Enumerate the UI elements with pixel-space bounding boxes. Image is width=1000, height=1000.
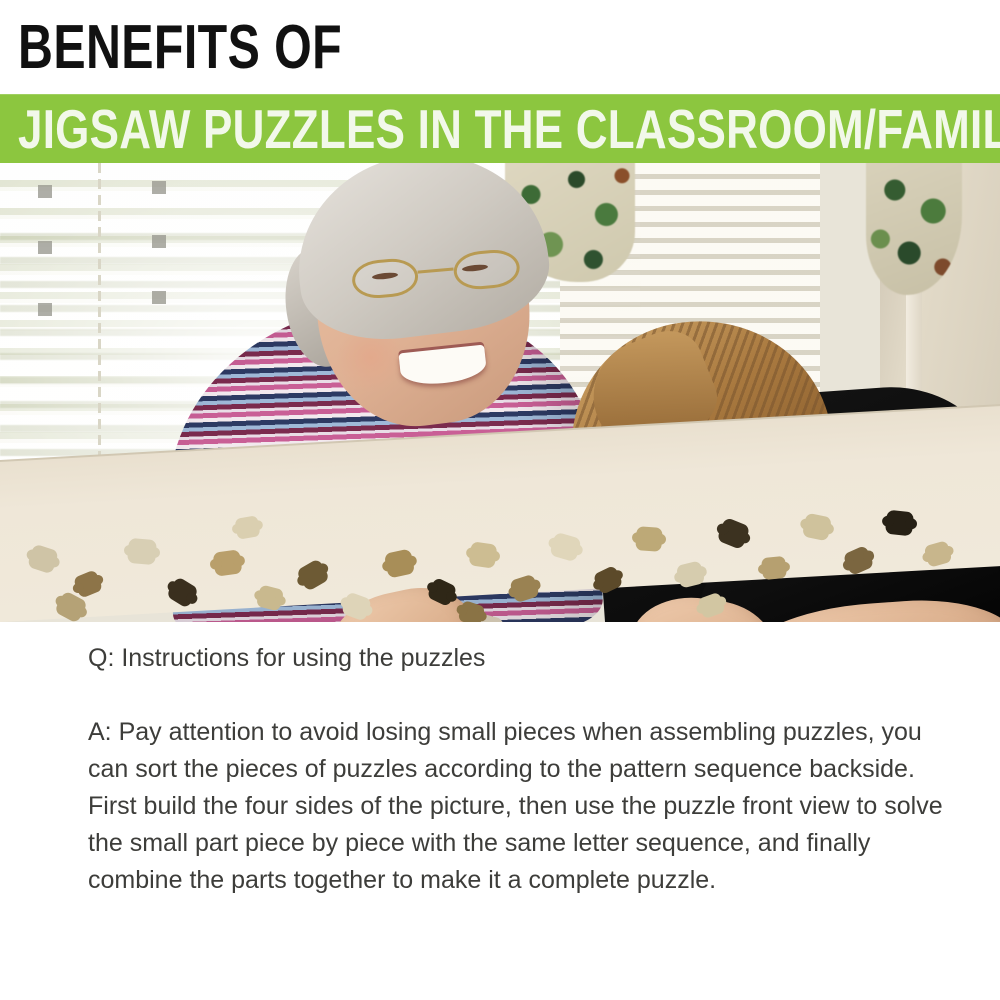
banner-title: JIGSAW PUZZLES IN THE CLASSROOM/FAMILY: [18, 100, 1000, 158]
puzzle-piece: [73, 569, 103, 598]
puzzle-piece: [234, 515, 260, 540]
puzzle-piece: [468, 541, 497, 568]
copy-spacer: [88, 677, 968, 714]
puzzle-piece: [426, 577, 457, 607]
page-title: BENEFITS OF: [18, 14, 342, 82]
puzzle-piece: [457, 600, 485, 622]
puzzle-piece: [716, 517, 750, 550]
puzzle-piece: [27, 544, 59, 575]
faq-question: Q: Instructions for using the puzzles: [88, 640, 968, 677]
puzzle-piece: [761, 556, 787, 580]
puzzle-piece: [923, 540, 952, 568]
puzzle-piece: [509, 574, 540, 604]
puzzle-piece: [296, 558, 331, 592]
puzzle-piece: [341, 591, 372, 621]
puzzle-piece: [802, 513, 832, 542]
eyeglasses-bridge: [418, 267, 454, 273]
blind-tab: [152, 181, 166, 194]
blind-tab: [152, 291, 166, 304]
infographic-page: BENEFITS OF JIGSAW PUZZLES IN THE CLASSR…: [0, 0, 1000, 1000]
faq-copy-block: Q: Instructions for using the puzzles A:…: [88, 640, 968, 899]
hero-photo: [0, 163, 1000, 622]
puzzle-piece: [256, 584, 285, 611]
puzzle-piece: [885, 510, 914, 537]
photo-scene: [0, 163, 1000, 622]
puzzle-piece: [635, 526, 663, 552]
faq-answer-paragraph-2: First build the four sides of the pictur…: [88, 788, 968, 899]
puzzle-piece: [166, 576, 199, 609]
puzzle-piece: [697, 592, 726, 620]
puzzle-piece: [842, 545, 874, 576]
scattered-puzzle-pieces: [0, 477, 1000, 622]
puzzle-piece: [212, 549, 242, 577]
puzzle-piece: [127, 538, 157, 565]
puzzle-piece: [549, 532, 582, 563]
faq-answer-paragraph-1: A: Pay attention to avoid losing small p…: [88, 714, 968, 788]
blind-tab: [38, 241, 52, 254]
blind-tab: [38, 185, 52, 198]
title-banner: JIGSAW PUZZLES IN THE CLASSROOM/FAMILY: [0, 94, 1000, 163]
puzzle-piece: [592, 565, 623, 595]
puzzle-piece: [676, 560, 706, 588]
blind-tab: [38, 303, 52, 316]
puzzle-piece: [384, 548, 416, 578]
blind-tab: [152, 235, 166, 248]
